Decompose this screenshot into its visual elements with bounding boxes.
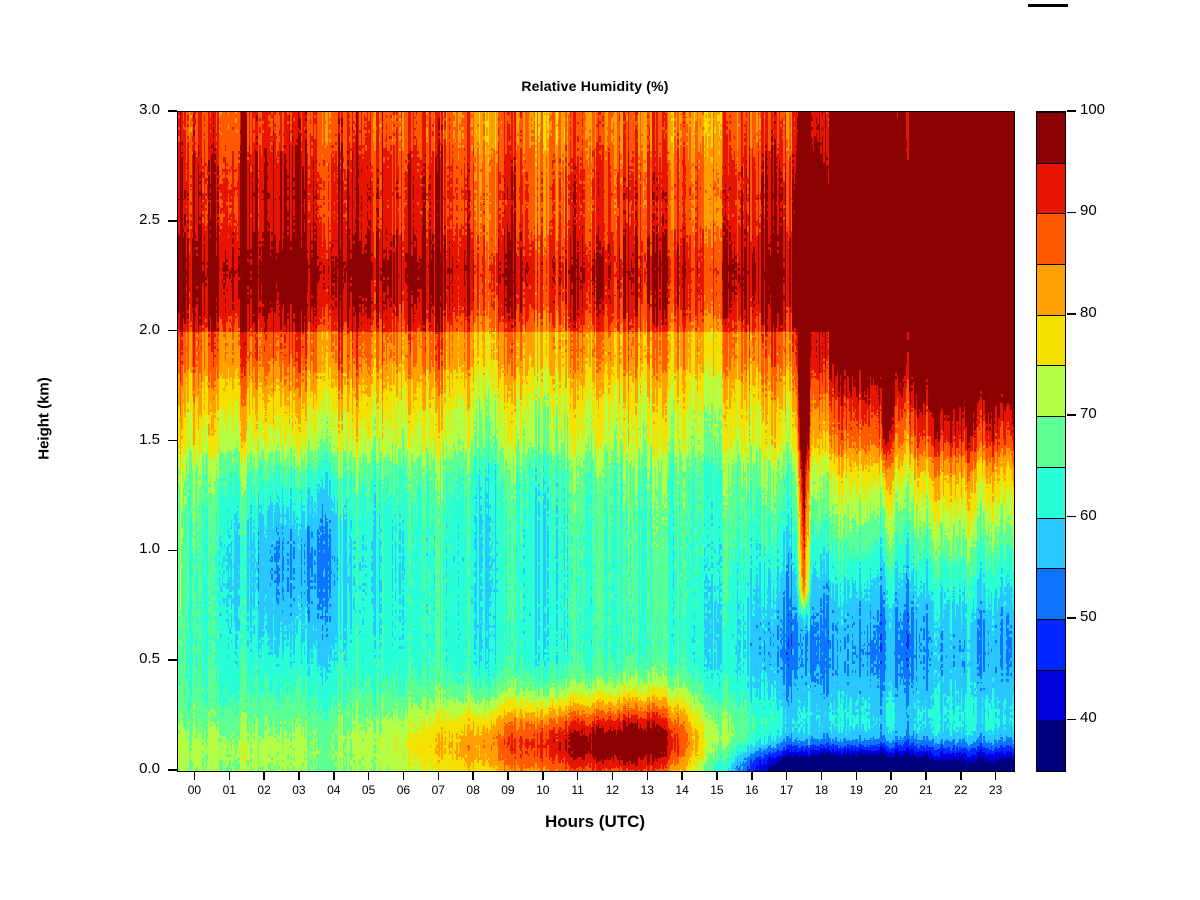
x-axis-title: Hours (UTC): [177, 812, 1013, 832]
y-axis-tick: [168, 550, 177, 552]
colorbar[interactable]: [1036, 111, 1066, 772]
y-axis-tick: [168, 769, 177, 771]
colorbar-tick-label: 100: [1080, 101, 1105, 118]
y-axis-tick-label: 2.0: [100, 321, 160, 338]
x-axis-tick: [542, 771, 544, 780]
figure-root: Relative Humidity (%) 0.00.51.01.52.02.5…: [0, 0, 1200, 900]
x-axis-tick: [229, 771, 231, 780]
colorbar-band: [1037, 619, 1065, 670]
colorbar-tick-label: 40: [1080, 709, 1097, 726]
x-axis-tick: [472, 771, 474, 780]
y-axis-tick: [168, 659, 177, 661]
x-axis-tick: [786, 771, 788, 780]
x-axis-tick: [194, 771, 196, 780]
colorbar-band: [1037, 568, 1065, 619]
colorbar-tick: [1067, 414, 1076, 416]
y-axis-tick-label: 2.5: [100, 211, 160, 228]
x-axis-tick: [298, 771, 300, 780]
colorbar-tick-label: 90: [1080, 202, 1097, 219]
x-axis-tick: [925, 771, 927, 780]
stray-line-artifact: [1028, 4, 1068, 7]
colorbar-band: [1037, 315, 1065, 366]
y-axis-tick: [168, 440, 177, 442]
colorbar-tick-label: 70: [1080, 405, 1097, 422]
x-axis-tick: [960, 771, 962, 780]
heatmap-plot-area[interactable]: [177, 111, 1015, 772]
x-axis-tick: [333, 771, 335, 780]
x-axis-tick-label: 23: [976, 783, 1016, 797]
x-axis-tick: [681, 771, 683, 780]
colorbar-band: [1037, 213, 1065, 264]
x-axis-tick: [821, 771, 823, 780]
colorbar-tick-label: 60: [1080, 507, 1097, 524]
x-axis-tick: [438, 771, 440, 780]
y-axis-tick-label: 3.0: [100, 101, 160, 118]
y-axis-tick: [168, 110, 177, 112]
y-axis-tick-label: 0.0: [100, 760, 160, 777]
x-axis-tick: [995, 771, 997, 780]
x-axis-tick: [890, 771, 892, 780]
x-axis-tick: [856, 771, 858, 780]
x-axis-tick: [612, 771, 614, 780]
x-axis-tick: [263, 771, 265, 780]
colorbar-band: [1037, 670, 1065, 721]
colorbar-band: [1037, 112, 1065, 163]
colorbar-band: [1037, 416, 1065, 467]
page-title: Relative Humidity (%): [177, 78, 1013, 94]
colorbar-tick: [1067, 516, 1076, 518]
colorbar-tick-label: 50: [1080, 608, 1097, 625]
x-axis-tick: [368, 771, 370, 780]
y-axis-title: Height (km): [36, 339, 53, 499]
x-axis-tick: [647, 771, 649, 780]
y-axis-tick: [168, 220, 177, 222]
colorbar-tick: [1067, 110, 1076, 112]
colorbar-band: [1037, 264, 1065, 315]
x-axis-tick: [751, 771, 753, 780]
x-axis-tick: [716, 771, 718, 780]
colorbar-band: [1037, 720, 1065, 771]
y-axis-tick-label: 1.5: [100, 431, 160, 448]
colorbar-tick: [1067, 719, 1076, 721]
colorbar-tick: [1067, 212, 1076, 214]
colorbar-band: [1037, 467, 1065, 518]
colorbar-tick: [1067, 313, 1076, 315]
x-axis-tick: [577, 771, 579, 780]
x-axis-tick: [507, 771, 509, 780]
y-axis-tick-label: 1.0: [100, 540, 160, 557]
colorbar-band: [1037, 518, 1065, 569]
colorbar-tick: [1067, 617, 1076, 619]
y-axis-tick: [168, 330, 177, 332]
colorbar-band: [1037, 365, 1065, 416]
heatmap-canvas: [178, 112, 1014, 771]
colorbar-tick-label: 80: [1080, 304, 1097, 321]
y-axis-tick-label: 0.5: [100, 650, 160, 667]
colorbar-band: [1037, 163, 1065, 214]
x-axis-tick: [403, 771, 405, 780]
